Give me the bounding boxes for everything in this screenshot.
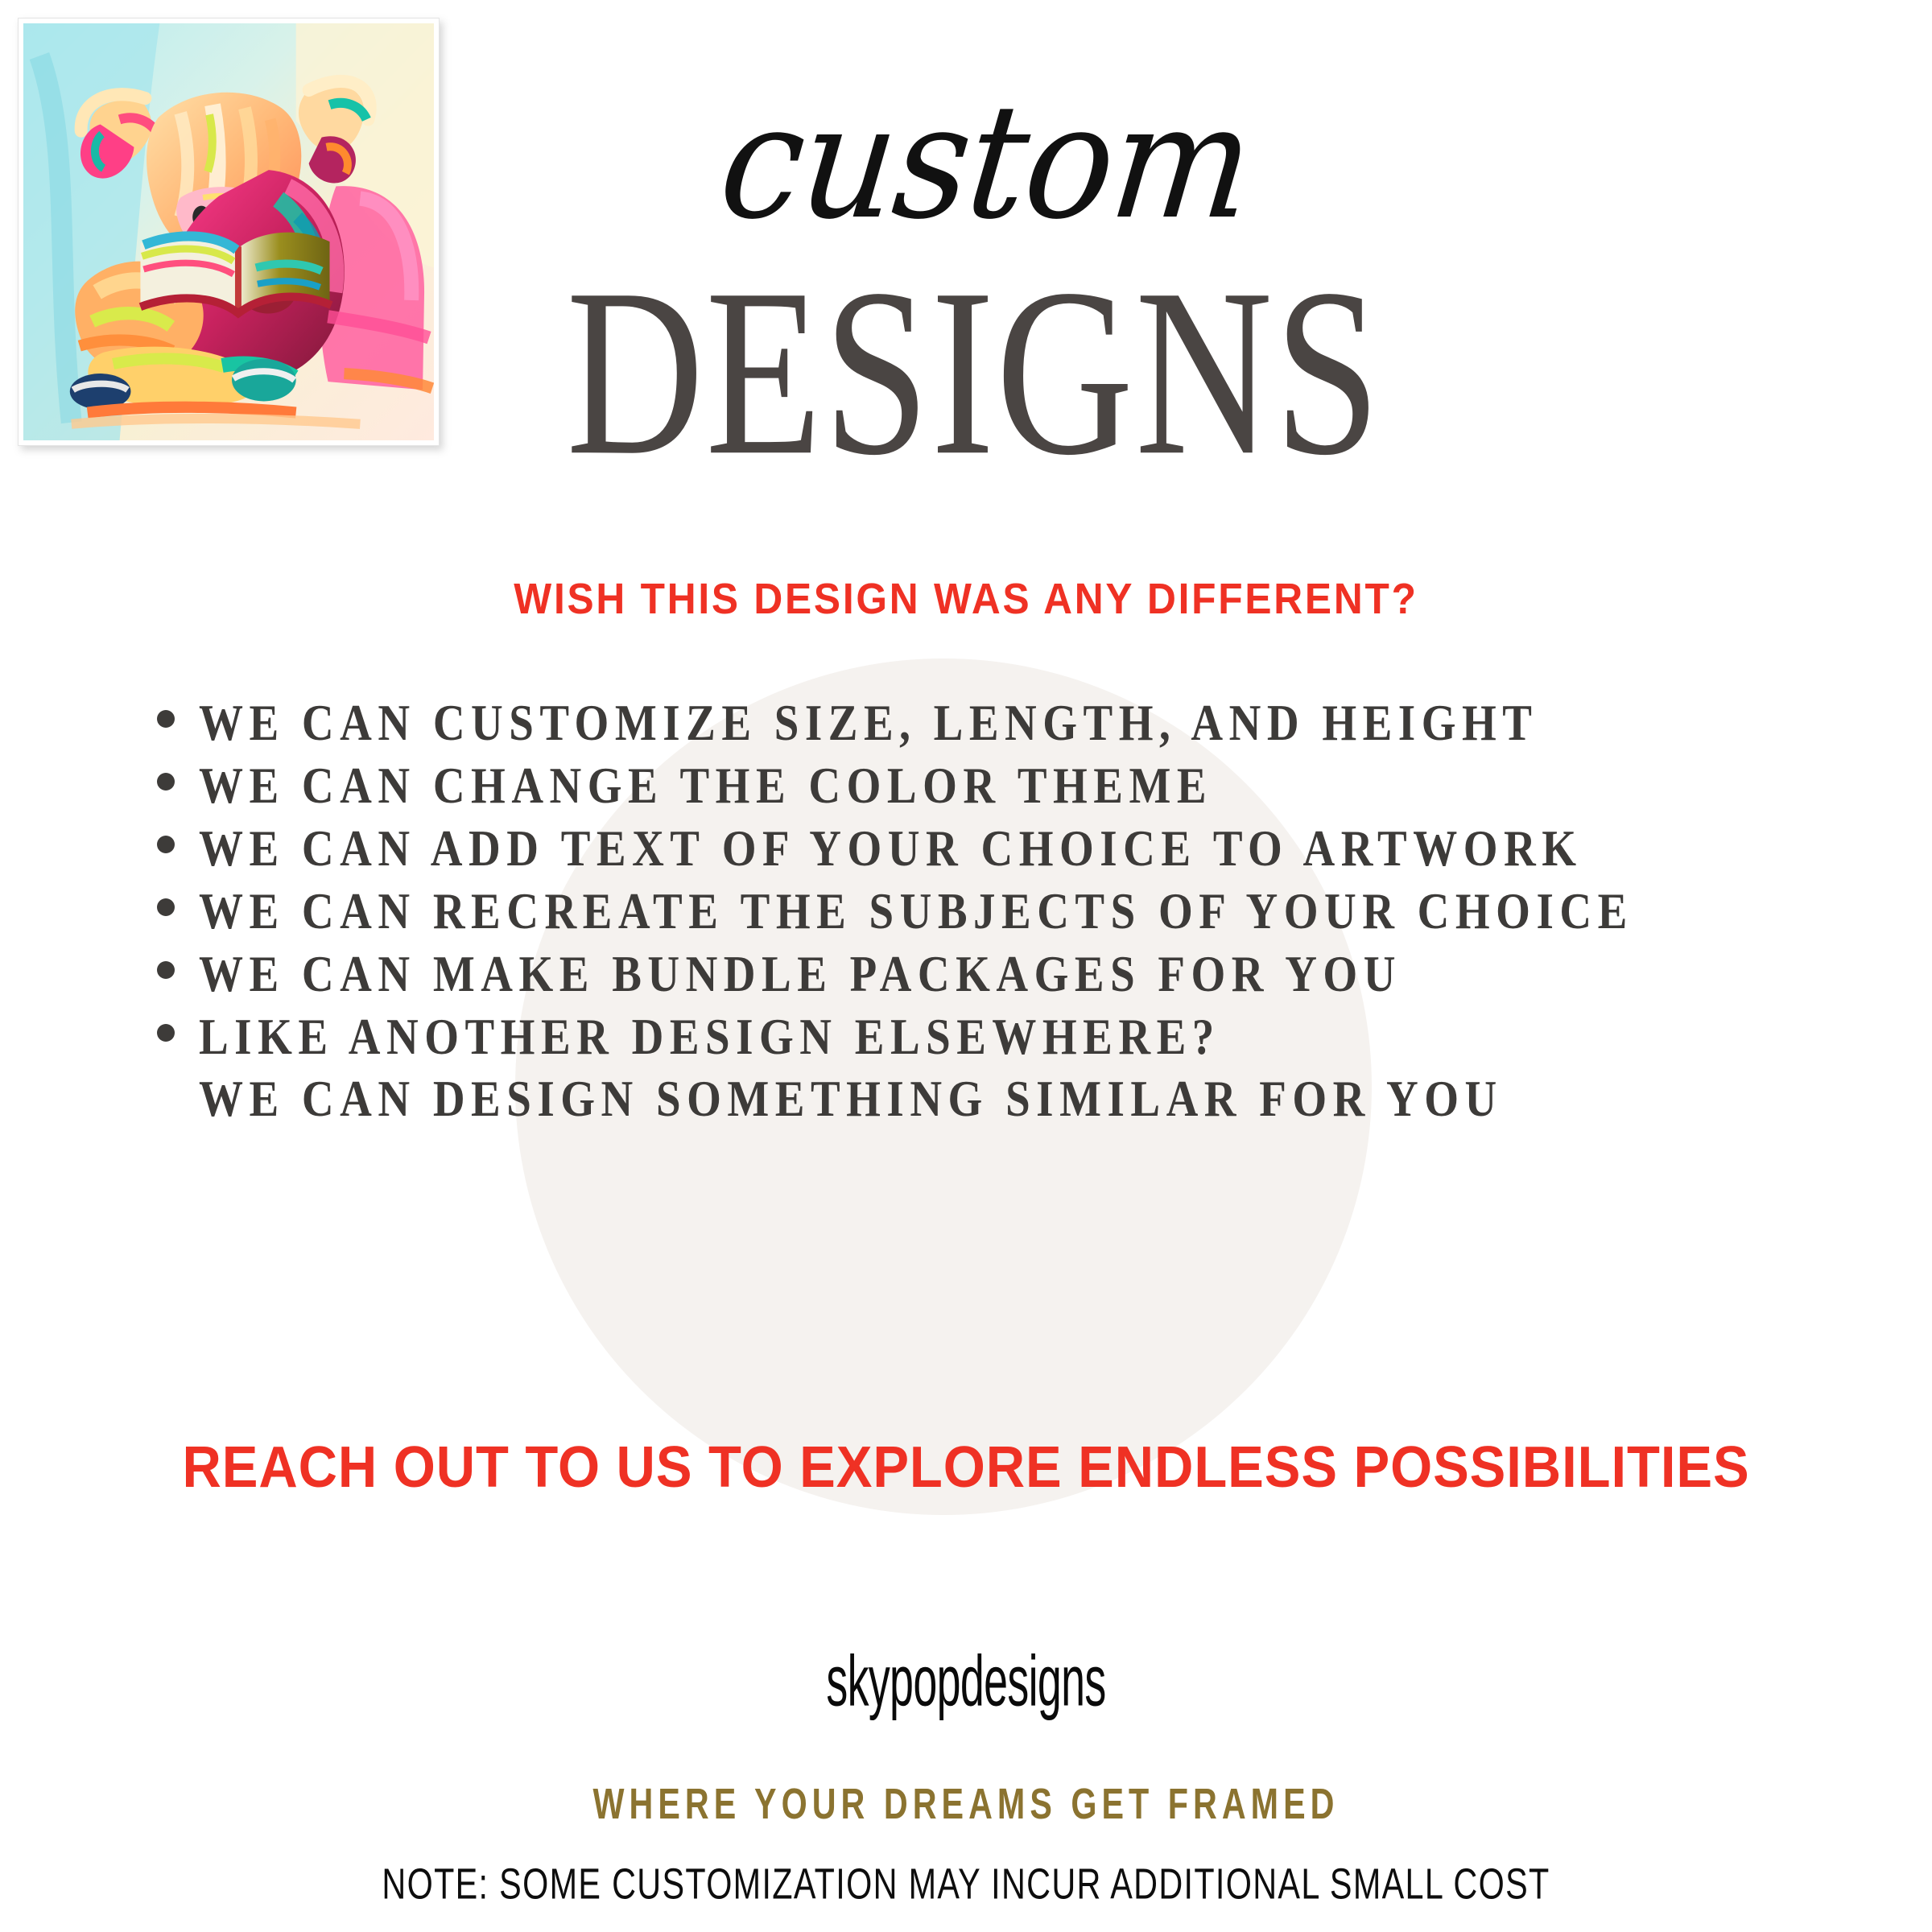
list-item: WE CAN CHANGE THE COLOR THEME (157, 760, 1847, 823)
highland-cow-reading-book-painting (23, 23, 434, 440)
feature-bullet-list: WE CAN CUSTOMIZE SIZE, LENGTH, AND HEIGH… (157, 697, 1847, 1137)
promo-page: custom DESIGNS WISH THIS DESIGN WAS ANY … (0, 0, 1932, 1932)
bullet-dot-icon (157, 961, 175, 979)
list-item-label: LIKE ANOTHER DESIGN ELSEWHERE? (199, 1007, 1220, 1066)
list-item-label: WE CAN ADD TEXT OF YOUR CHOICE TO ARTWOR… (199, 819, 1583, 877)
bullet-dot-icon (157, 1024, 175, 1042)
list-item-label: WE CAN CUSTOMIZE SIZE, LENGTH, AND HEIGH… (199, 693, 1538, 752)
list-item: WE CAN MAKE BUNDLE PACKAGES FOR YOU (157, 948, 1847, 1011)
list-item-continuation: WE CAN DESIGN SOMETHING SIMILAR FOR YOU (157, 1074, 1847, 1137)
headline-block: custom DESIGNS (451, 89, 1497, 452)
artwork-thumbnail-frame[interactable] (18, 18, 440, 446)
bullet-dot-icon (157, 710, 175, 728)
list-item: WE CAN CUSTOMIZE SIZE, LENGTH, AND HEIGH… (157, 697, 1847, 760)
list-item: WE CAN ADD TEXT OF YOUR CHOICE TO ARTWOR… (157, 823, 1847, 885)
page-title: DESIGNS (467, 246, 1482, 498)
list-item-label: WE CAN CHANGE THE COLOR THEME (199, 756, 1212, 815)
list-item: LIKE ANOTHER DESIGN ELSEWHERE? (157, 1011, 1847, 1074)
bullet-dot-icon (157, 773, 175, 791)
headline-script-word: custom (443, 83, 1506, 242)
list-item-label: WE CAN RECREATE THE SUBJECTS OF YOUR CHO… (199, 881, 1633, 940)
call-to-action-text[interactable]: REACH OUT TO US TO EXPLORE ENDLESS POSSI… (68, 1435, 1864, 1501)
subheading-question: WISH THIS DESIGN WAS ANY DIFFERENT? (77, 574, 1855, 624)
list-item: WE CAN RECREATE THE SUBJECTS OF YOUR CHO… (157, 885, 1847, 948)
list-item-label: WE CAN MAKE BUNDLE PACKAGES FOR YOU (199, 944, 1402, 1003)
brand-name: skypopdesigns (348, 1640, 1584, 1723)
brand-tagline: WHERE YOUR DREAMS GET FRAMED (135, 1780, 1797, 1830)
footer-note: NOTE: SOME CUSTOMIZATION MAY INCUR ADDIT… (116, 1858, 1816, 1909)
list-item-label: WE CAN DESIGN SOMETHING SIMILAR FOR YOU (199, 1069, 1503, 1141)
bullet-dot-icon (157, 898, 175, 916)
bullet-dot-icon (157, 836, 175, 853)
